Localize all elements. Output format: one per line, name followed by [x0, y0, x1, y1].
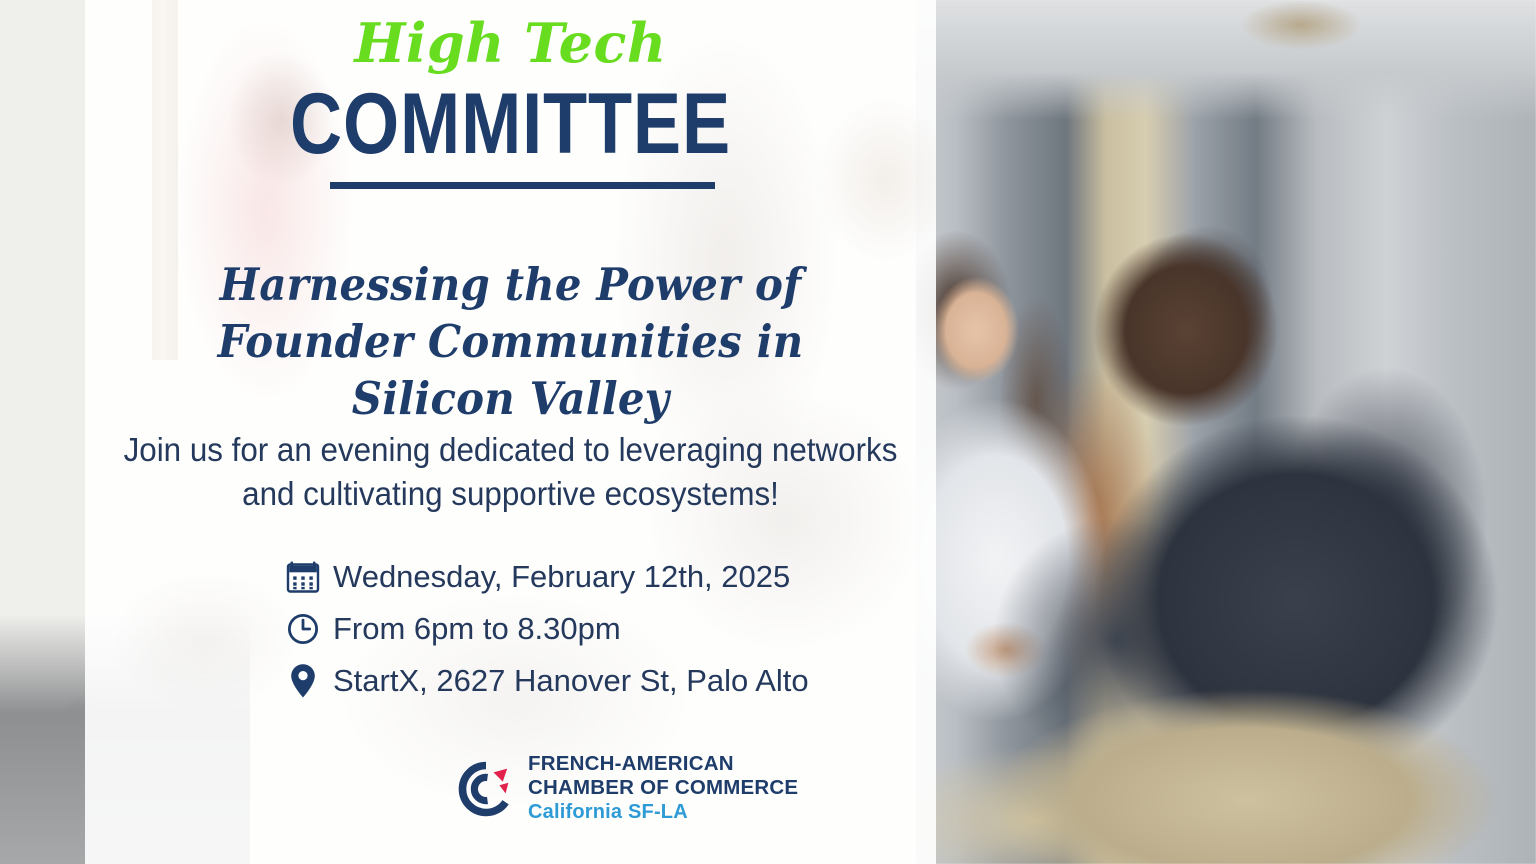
pendant-lamp-detail [1216, 0, 1386, 60]
event-details-list: Wednesday, February 12th, 2025 From 6pm … [283, 552, 883, 708]
organization-logo: FRENCH-AMERICAN CHAMBER OF COMMERCE Cali… [457, 752, 798, 825]
logo-line-2: CHAMBER OF COMMERCE [528, 776, 798, 800]
event-flyer: High Tech COMMITTEE Harnessing the Power… [0, 0, 1536, 864]
logo-line-1: FRENCH-AMERICAN [528, 752, 798, 776]
event-subtitle: Harnessing the Power of Founder Communit… [148, 256, 872, 427]
logo-wordmark: FRENCH-AMERICAN CHAMBER OF COMMERCE Cali… [528, 752, 798, 825]
right-background-photo [916, 0, 1536, 864]
kicker-text: High Tech [85, 14, 936, 72]
panel-content: High Tech COMMITTEE Harnessing the Power… [85, 0, 936, 864]
logo-line-3: California SF-LA [528, 800, 798, 825]
location-pin-icon [283, 661, 323, 701]
calendar-icon [283, 557, 323, 597]
detail-row-date: Wednesday, February 12th, 2025 [283, 552, 883, 602]
content-panel: High Tech COMMITTEE Harnessing the Power… [85, 0, 936, 864]
detail-text-time: From 6pm to 8.30pm [333, 612, 621, 646]
detail-text-location: StartX, 2627 Hanover St, Palo Alto [333, 664, 809, 698]
clock-icon [283, 609, 323, 649]
event-description: Join us for an evening dedicated to leve… [120, 428, 902, 516]
facc-circle-c-icon [457, 760, 515, 818]
detail-text-date: Wednesday, February 12th, 2025 [333, 560, 790, 594]
title-underline-rule [330, 182, 715, 189]
detail-row-location: StartX, 2627 Hanover St, Palo Alto [283, 656, 883, 706]
page-title: COMMITTEE [153, 78, 868, 170]
detail-row-time: From 6pm to 8.30pm [283, 604, 883, 654]
